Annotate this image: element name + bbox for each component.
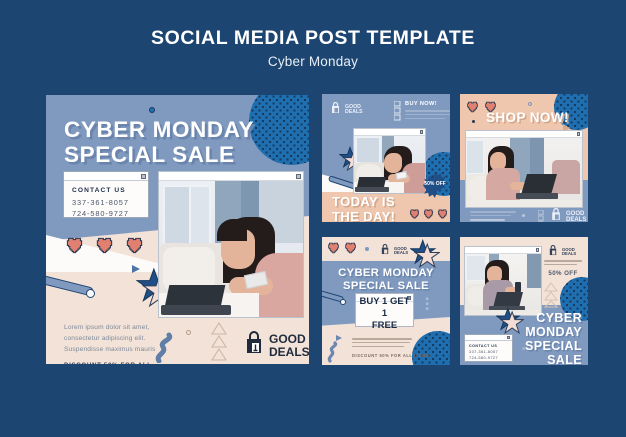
contact-phone-1: 337-361-8057 [72, 197, 140, 208]
buy-now-detail-lines [405, 110, 450, 119]
photo-frame-titlebar [466, 131, 582, 138]
discount-badge: 50% OFF [422, 172, 448, 198]
coupon-label: BUY 1 GET 1 FREE [356, 302, 413, 326]
card-today-is-the-day[interactable]: GOOD DEALS BUY NOW! [319, 91, 453, 225]
close-icon[interactable] [420, 130, 424, 134]
main-body-copy: Lorem ipsum dolor sit amet, consectetur … [64, 323, 170, 364]
cm-photo-frame [464, 246, 542, 316]
cm-title-line-4: SALE [525, 353, 582, 365]
coupon-line-2: FREE [356, 320, 413, 332]
brand-logo: GOOD DEALS [548, 243, 576, 261]
close-icon[interactable] [507, 336, 510, 339]
badge-label: 50% OFF [424, 182, 445, 188]
card-buy-1-get-1-free[interactable]: GOOD DEALS CYBER MONDAY SPECIAL SALE [319, 234, 453, 368]
heart-icon [95, 237, 114, 254]
cm-title-line-3: SPECIAL [525, 339, 582, 353]
squiggle-decoration [326, 341, 348, 365]
heart-icon [65, 237, 84, 254]
small-circle-decoration [186, 330, 191, 335]
heart-icon [409, 209, 420, 219]
shopping-bag-icon [550, 208, 562, 222]
main-photo [159, 181, 303, 317]
brand-logo: GOOD DEALS [330, 101, 363, 119]
brand-name: GOOD DEALS [345, 105, 363, 116]
brand-name: GOOD DEALS [562, 248, 576, 257]
close-icon[interactable] [577, 132, 581, 136]
shopping-bag-icon [548, 243, 558, 261]
b1g1-body-lines [352, 338, 412, 349]
main-photo-frame [158, 171, 304, 318]
list-marker-icon [425, 296, 430, 317]
card-cyber-monday-special-sale-main[interactable]: CYBER MONDAY SPECIAL SALE CONTACT US 337… [42, 91, 313, 368]
brand-logo: GOOD DEALS [380, 242, 408, 260]
shop-photo [466, 138, 582, 207]
brand-logo: GOOD DEALS [243, 331, 309, 360]
triangle-decoration [211, 322, 223, 331]
main-title-line-1: CYBER MONDAY [64, 117, 254, 142]
cm-detail-lines [544, 260, 582, 268]
dot-decoration [522, 347, 525, 350]
today-title-line-1: TODAY IS [332, 195, 395, 210]
heart-icon [466, 101, 479, 113]
brand-line-2: DEALS [566, 217, 586, 222]
heart-icon [344, 242, 357, 254]
brand-line-2: DEALS [269, 346, 309, 358]
cm-title-line-1: CYBER [525, 311, 582, 325]
poster-canvas: SOCIAL MEDIA POST TEMPLATE Cyber Monday … [0, 0, 626, 437]
main-discount-text: DISCOUNT 50% FOR ALL ITEMS! [64, 362, 170, 364]
dot-decoration [149, 107, 155, 113]
cm-card-title: CYBER MONDAY SPECIAL SALE [525, 311, 582, 365]
page-header: SOCIAL MEDIA POST TEMPLATE Cyber Monday [0, 28, 626, 69]
shop-body-lines [470, 211, 516, 222]
dot-decoration [528, 102, 532, 106]
dot-decoration [472, 120, 475, 123]
cm-photo [465, 254, 541, 315]
photo-frame-titlebar [159, 172, 303, 181]
contact-us-box[interactable]: CONTACT US 337-361-8057 724-580-9727 [63, 171, 149, 218]
heart-icon [327, 242, 340, 254]
b1g1-title-line-1: CYBER MONDAY [322, 267, 450, 280]
brand-logo: GOOD DEALS [550, 208, 586, 222]
main-lorem-text: Lorem ipsum dolor sit amet, consectetur … [64, 323, 170, 356]
brand-line-2: DEALS [562, 252, 576, 256]
card-shop-now[interactable]: SHOP NOW! [457, 91, 591, 225]
contact-phone-2: 724-580-9727 [469, 355, 508, 361]
brand-line-2: DEALS [394, 251, 408, 255]
contact-us-box[interactable]: CONTACT US 337-361-8057 724-580-9727 [464, 334, 513, 362]
pointer-knob-decoration [86, 289, 95, 298]
close-icon[interactable] [536, 248, 540, 252]
shop-card-title: SHOP NOW! [486, 110, 569, 125]
dot-decoration [365, 247, 369, 251]
dot-decoration [522, 214, 525, 217]
buy-now-block: BUY NOW! [394, 101, 450, 126]
cm-title-line-2: MONDAY [525, 325, 582, 339]
today-photo [354, 136, 425, 193]
main-title-line-2: SPECIAL SALE [64, 142, 254, 167]
b1g1-card-title: CYBER MONDAY SPECIAL SALE [322, 267, 450, 292]
coupon-line-1: BUY 1 GET 1 [356, 296, 413, 320]
brand-line-1: GOOD [269, 333, 309, 345]
today-photo-frame [353, 128, 426, 194]
close-icon[interactable] [296, 174, 301, 179]
contact-box-titlebar [64, 172, 148, 181]
today-card-title: TODAY IS THE DAY! [332, 195, 395, 222]
today-title-line-2: THE DAY! [332, 210, 395, 222]
page-title: SOCIAL MEDIA POST TEMPLATE [0, 28, 626, 49]
list-marker-icon [394, 101, 401, 126]
shopping-bag-icon [330, 101, 341, 119]
heart-icon [125, 237, 144, 254]
triangle-decoration [544, 282, 558, 313]
page-subtitle: Cyber Monday [0, 54, 626, 69]
photo-frame-titlebar [354, 129, 425, 136]
main-card-title: CYBER MONDAY SPECIAL SALE [64, 117, 254, 167]
cm-badge-label: 50% OFF [544, 270, 582, 277]
brand-line-2: DEALS [345, 110, 363, 115]
heart-icon [437, 209, 448, 219]
contact-label: CONTACT US [72, 187, 140, 194]
b1g1-discount-text: DISCOUNT 50% FOR ALL ITEMS! [352, 353, 436, 358]
brand-name: GOOD DEALS [394, 247, 408, 256]
shopping-bag-icon [243, 331, 265, 360]
close-icon[interactable] [141, 174, 146, 179]
contact-phone-2: 724-580-9727 [72, 208, 140, 219]
coupon-box[interactable]: BUY 1 GET 1 FREE [355, 293, 414, 327]
brand-name: GOOD DEALS [269, 333, 309, 357]
shop-photo-frame [465, 130, 583, 208]
list-marker-icon [538, 210, 544, 222]
brand-name: GOOD DEALS [566, 211, 586, 222]
b1g1-title-line-2: SPECIAL SALE [322, 280, 450, 293]
buy-now-label: BUY NOW! [405, 101, 450, 107]
card-cyber-monday-special-sale-small[interactable]: GOOD DEALS 50% OFF [457, 234, 591, 368]
shopping-bag-icon [380, 242, 390, 260]
photo-frame-titlebar [465, 247, 541, 254]
heart-icon [423, 209, 434, 219]
contact-label: CONTACT US [469, 344, 508, 348]
pointer-knob-decoration [340, 299, 346, 305]
